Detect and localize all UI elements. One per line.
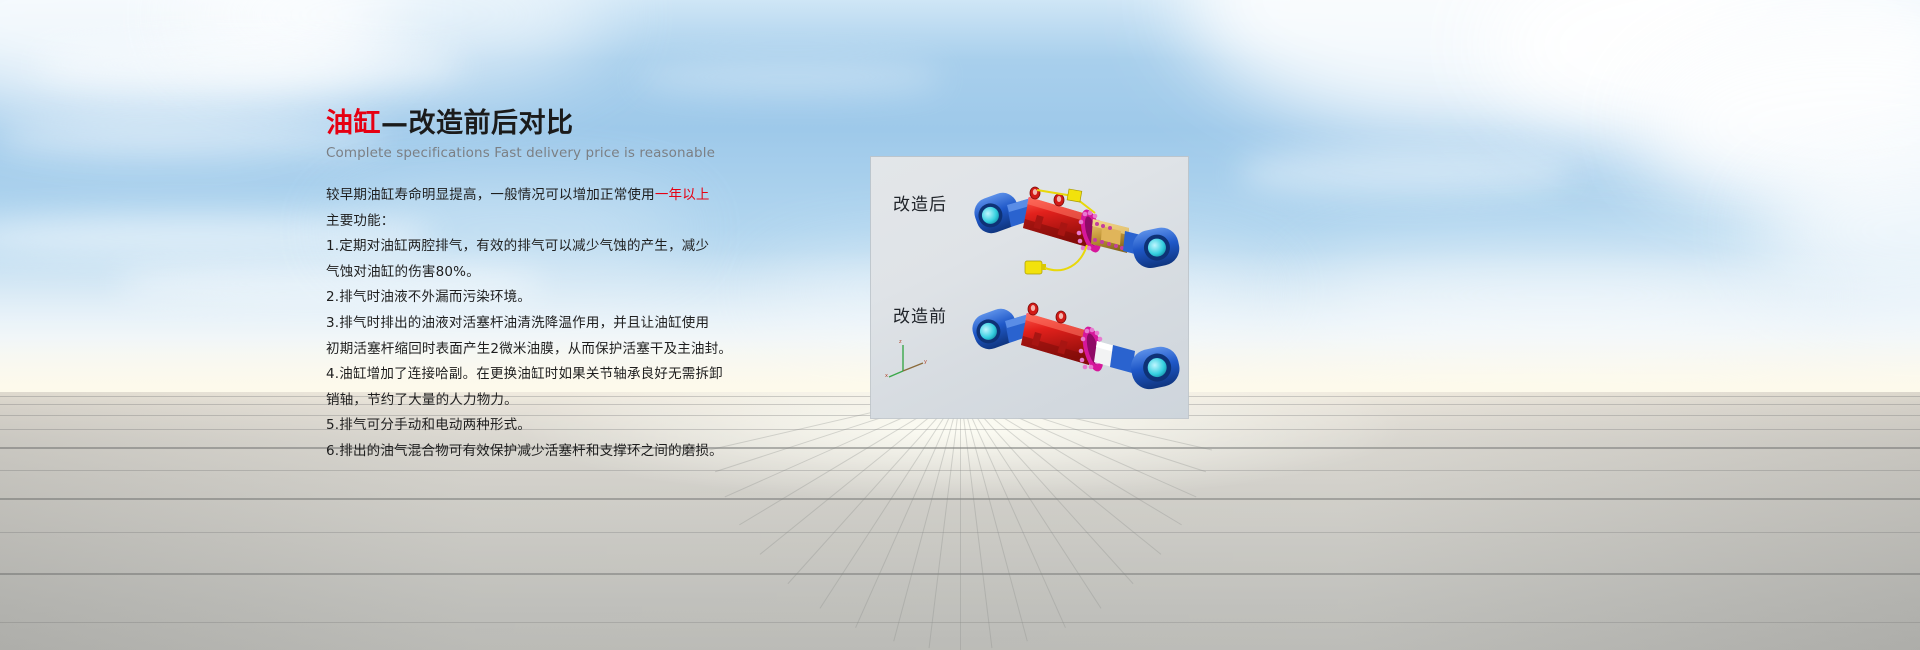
label-after-retrofit: 改造后: [893, 190, 947, 215]
feature-line-accent: 一年以上: [655, 187, 710, 203]
feature-line: 销轴，节约了大量的人力物力。: [326, 388, 846, 414]
hero-banner: 油缸—改造前后对比 Complete specifications Fast d…: [0, 0, 1920, 650]
svg-text:y: y: [924, 359, 927, 365]
feature-list: 较早期油缸寿命明显提高，一般情况可以增加正常使用一年以上 主要功能： 1.定期对…: [326, 183, 846, 465]
feature-line-text: 5.排气可分手动和电动两种形式。: [326, 417, 531, 433]
page-title-highlight: 油缸: [326, 108, 381, 139]
feature-line: 2.排气时油液不外漏而污染环境。: [326, 285, 846, 311]
feature-line: 较早期油缸寿命明显提高，一般情况可以增加正常使用一年以上: [326, 183, 846, 209]
hydraulic-cylinder-after-render: [969, 169, 1183, 281]
feature-line-text: 6.排出的油气混合物可有效保护减少活塞杆和支撑环之间的磨损。: [326, 443, 723, 459]
hydraulic-cylinder-before-render: [969, 279, 1183, 409]
feature-line: 3.排气时排出的油液对活塞杆油清洗降温作用，并且让油缸使用: [326, 311, 846, 337]
feature-line-text: 3.排气时排出的油液对活塞杆油清洗降温作用，并且让油缸使用: [326, 315, 709, 331]
feature-line-text: 4.油缸增加了连接哈副。在更换油缸时如果关节轴承良好无需拆卸: [326, 366, 723, 382]
feature-line: 4.油缸增加了连接哈副。在更换油缸时如果关节轴承良好无需拆卸: [326, 362, 846, 388]
svg-text:z: z: [899, 339, 902, 345]
feature-line-text: 气蚀对油缸的伤害80%。: [326, 264, 480, 280]
label-before-retrofit: 改造前: [893, 302, 947, 327]
banner-copy: 油缸—改造前后对比 Complete specifications Fast d…: [326, 108, 846, 465]
feature-line: 主要功能：: [326, 209, 846, 235]
cad-axis-triad-icon: z x y: [885, 337, 929, 379]
comparison-image-panel: 改造后 改造前 z x y: [871, 157, 1188, 418]
feature-line-text: 1.定期对油缸两腔排气，有效的排气可以减少气蚀的产生，减少: [326, 238, 709, 254]
feature-line: 1.定期对油缸两腔排气，有效的排气可以减少气蚀的产生，减少: [326, 234, 846, 260]
page-title: 油缸—改造前后对比: [326, 108, 846, 139]
feature-line-text: 销轴，节约了大量的人力物力。: [326, 392, 518, 408]
pavement-background: [0, 392, 1920, 650]
feature-line-text: 初期活塞杆缩回时表面产生2微米油膜，从而保护活塞干及主油封。: [326, 341, 732, 357]
page-subtitle: Complete specifications Fast delivery pr…: [326, 145, 846, 161]
feature-line-text: 较早期油缸寿命明显提高，一般情况可以增加正常使用: [326, 187, 655, 203]
svg-text:x: x: [885, 373, 888, 379]
feature-line-text: 2.排气时油液不外漏而污染环境。: [326, 289, 531, 305]
feature-line-text: 主要功能：: [326, 213, 395, 229]
feature-line: 气蚀对油缸的伤害80%。: [326, 260, 846, 286]
feature-line: 初期活塞杆缩回时表面产生2微米油膜，从而保护活塞干及主油封。: [326, 337, 846, 363]
feature-line: 5.排气可分手动和电动两种形式。: [326, 413, 846, 439]
page-title-rest: —改造前后对比: [381, 108, 574, 139]
feature-line: 6.排出的油气混合物可有效保护减少活塞杆和支撑环之间的磨损。: [326, 439, 846, 465]
